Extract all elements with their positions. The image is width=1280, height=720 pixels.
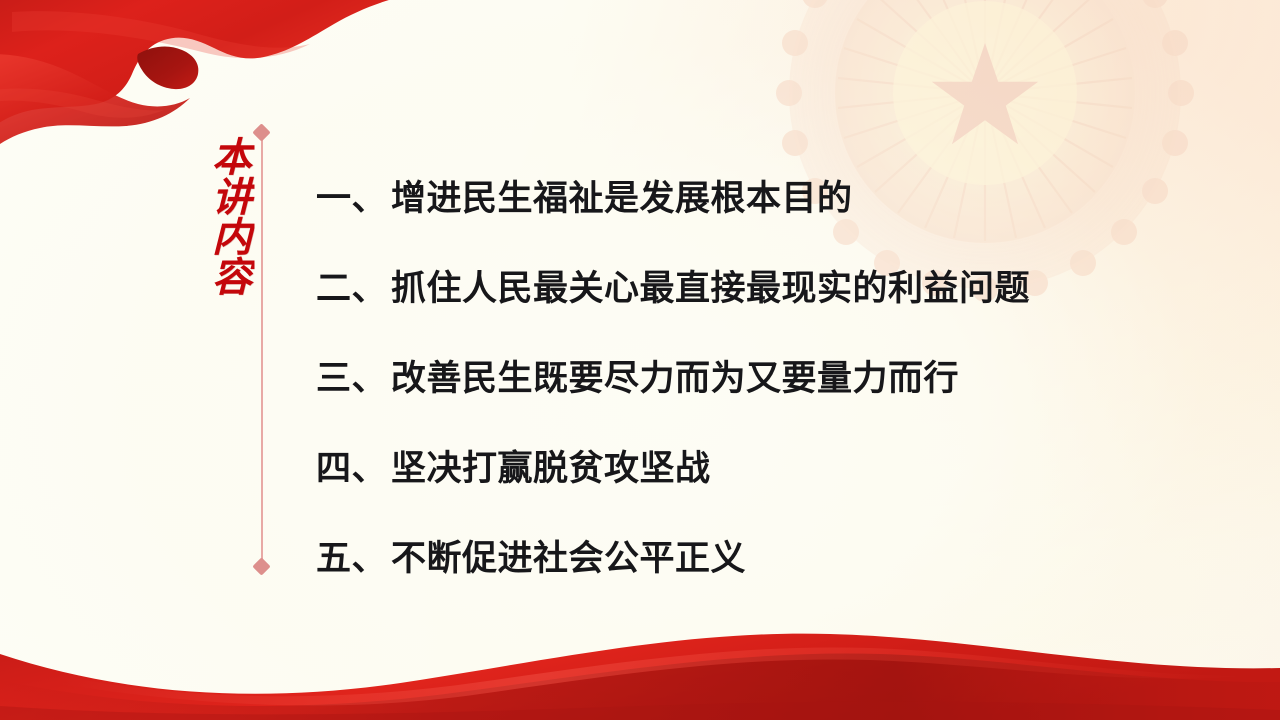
slide-canvas: 本讲内容 一、增进民生福祉是发展根本目的 二、抓住人民最关心最直接最现实的利益问… <box>0 0 1280 720</box>
outline-list: 一、增进民生福祉是发展根本目的 二、抓住人民最关心最直接最现实的利益问题 三、改… <box>316 150 1236 600</box>
outline-item-1-label: 增进民生福祉是发展根本目的 <box>391 170 853 221</box>
outline-item-1-number: 一、 <box>316 170 387 221</box>
outline-item-5-number: 五、 <box>316 530 387 581</box>
vertical-divider-line <box>261 132 263 566</box>
outline-item-5-label: 不断促进社会公平正义 <box>391 530 746 581</box>
outline-item-3-number: 三、 <box>316 350 387 401</box>
outline-item-4-label: 坚决打赢脱贫攻坚战 <box>391 440 711 491</box>
outline-item-2-number: 二、 <box>316 260 387 311</box>
vertical-section-title: 本讲内容 <box>196 136 250 296</box>
outline-item-3-label: 改善民生既要尽力而为又要量力而行 <box>391 350 959 401</box>
red-silk-wave-bottom <box>0 610 1280 720</box>
outline-item-4-number: 四、 <box>316 440 387 491</box>
outline-item-1[interactable]: 一、增进民生福祉是发展根本目的 <box>316 150 1236 240</box>
outline-item-3[interactable]: 三、改善民生既要尽力而为又要量力而行 <box>316 330 1236 420</box>
outline-item-2-label: 抓住人民最关心最直接最现实的利益问题 <box>391 260 1030 311</box>
outline-item-5[interactable]: 五、不断促进社会公平正义 <box>316 510 1236 600</box>
outline-item-2[interactable]: 二、抓住人民最关心最直接最现实的利益问题 <box>316 240 1236 330</box>
outline-item-4[interactable]: 四、坚决打赢脱贫攻坚战 <box>316 420 1236 510</box>
